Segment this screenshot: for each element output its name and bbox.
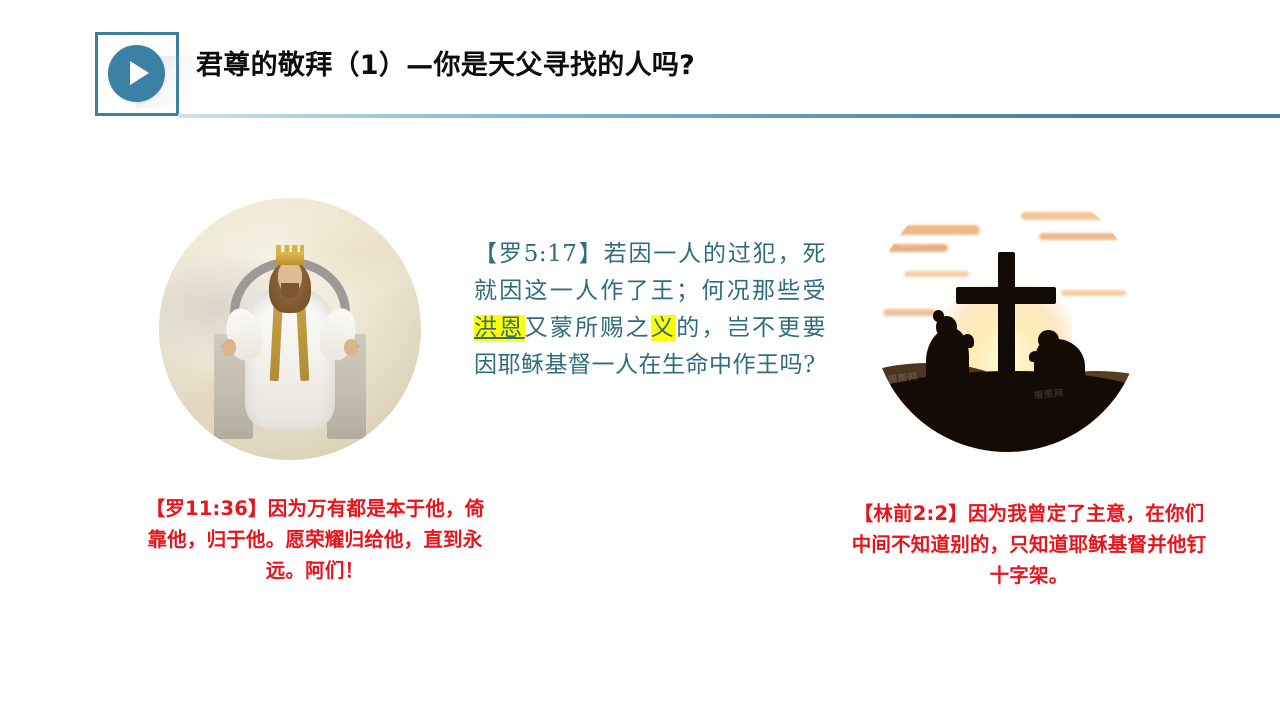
kneeling-man-silhouette: [1034, 339, 1085, 401]
gold-crown: [276, 252, 305, 265]
verse-highlight-underlined: 洪恩: [474, 315, 525, 341]
slide-title-bar: 君尊的敬拜（1）—你是天父寻找的人吗?: [0, 0, 1280, 130]
verse-text-segment: 又蒙所赐之: [525, 315, 651, 341]
cloud-streak: [1061, 290, 1126, 296]
page-title: 君尊的敬拜（1）—你是天父寻找的人吗?: [196, 46, 695, 86]
cloud-streak: [888, 225, 980, 234]
christ-enthroned-photo: [159, 198, 421, 460]
praying-hands: [1029, 351, 1042, 362]
photo-watermark: 摄图网: [1028, 245, 1059, 261]
romans-5-17-verse: 【罗5:17】若因一人的过犯，死就因这一人作了王；何况那些受洪恩又蒙所赐之义的，…: [474, 236, 826, 384]
head: [936, 316, 958, 338]
praying-hands: [961, 334, 974, 349]
cloud-streak: [1021, 212, 1124, 221]
cloud-streak: [883, 309, 937, 316]
kneeling-woman-silhouette: [926, 328, 969, 401]
first-corinthians-2-2-caption: 【林前2:2】因为我曾定了主意，在你们中间不知道别的，只知道耶稣基督并他钉十字架…: [848, 498, 1210, 591]
presentation-slide: 君尊的敬拜（1）—你是天父寻找的人吗?: [0, 0, 1280, 720]
foreground-ground: [872, 371, 1142, 452]
romans-11-36-caption: 【罗11:36】因为万有都是本于他，倚靠他，归于他。愿荣耀归给他，直到永远。阿们…: [140, 493, 490, 586]
cloud-streak: [1039, 233, 1120, 240]
cloud-streak: [904, 271, 969, 277]
cloud-streak: [877, 244, 947, 252]
play-icon[interactable]: [108, 45, 165, 102]
head: [1038, 330, 1059, 350]
verse-highlight: 义: [651, 315, 676, 341]
title-underline-rule: [178, 114, 1280, 118]
cross-sunset-photo: 摄图网 摄图网 摄图网 摄图网: [872, 182, 1142, 452]
cross-horizontal-beam: [956, 287, 1056, 304]
verse-text-segment: 【罗5:17】若因一人的过犯，死就因这一人作了王；何况那些受: [474, 241, 826, 304]
beard: [281, 283, 299, 297]
play-triangle-icon: [130, 61, 149, 85]
